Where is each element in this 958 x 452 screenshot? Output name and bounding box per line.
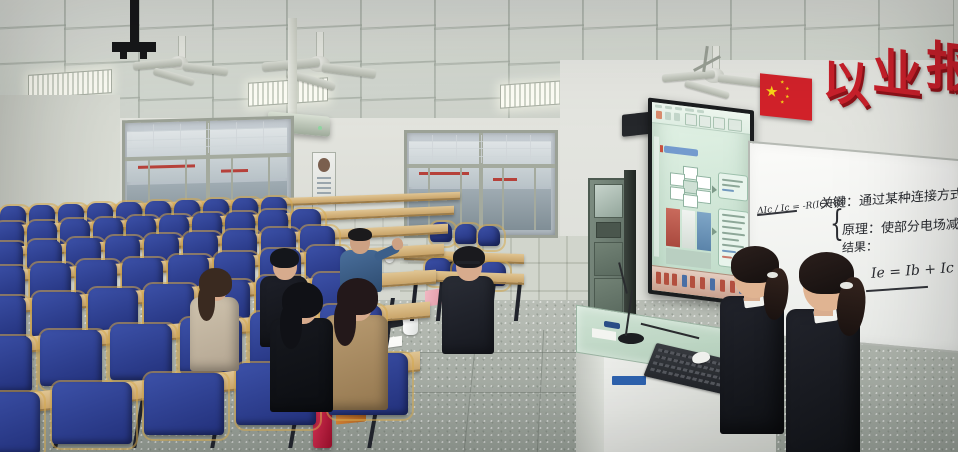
- person-hair: [270, 248, 299, 268]
- wall-sign-char-3: 报: [926, 23, 958, 104]
- callout-text: [722, 226, 742, 230]
- ribbon-tab: [675, 107, 682, 111]
- slide-panel-white: [682, 210, 695, 250]
- callout-text: [722, 214, 745, 218]
- projector-pole: [288, 18, 297, 116]
- window-view-banner: [493, 178, 517, 181]
- projector-led: [318, 126, 322, 130]
- person-hair-length: [198, 285, 215, 321]
- person-glasses: [456, 261, 480, 264]
- equipment-cabinet[interactable]: [588, 178, 628, 322]
- ribbon-icon: [713, 116, 725, 129]
- flag-star-small: ★: [785, 87, 789, 92]
- lecture-seat[interactable]: [0, 336, 32, 392]
- callout-text: [722, 184, 740, 188]
- slide-title-bar: [664, 145, 698, 156]
- callout-text: [722, 189, 734, 192]
- taskbar-icon: [672, 273, 677, 286]
- plaque-text: [317, 177, 331, 179]
- slide-panel-red: [666, 208, 680, 248]
- slide-thumbnail-pane: [654, 136, 659, 257]
- hexagon-diagram: [668, 164, 712, 207]
- microphone-base: [618, 333, 644, 344]
- cabinet-window: [594, 184, 623, 218]
- ribbon-icon: [656, 110, 662, 119]
- ribbon-icon: [685, 113, 697, 126]
- hex-node: [696, 189, 711, 204]
- ceiling-tile: [212, 24, 288, 65]
- person-hair: [348, 228, 372, 241]
- lecture-seat[interactable]: [144, 373, 224, 435]
- ceiling-tile: [0, 24, 66, 65]
- lecture-seat-right[interactable]: [478, 226, 500, 246]
- lecture-seat[interactable]: [0, 392, 40, 452]
- ceiling-tile: [434, 61, 510, 102]
- window-sash: [534, 167, 536, 230]
- whiteboard-brace: {: [830, 205, 844, 245]
- hex-node: [683, 194, 698, 209]
- slide-panel-caption: [666, 248, 711, 270]
- projector-mount-pole: [130, 0, 139, 44]
- callout-text: [722, 220, 745, 224]
- taskbar-icon: [664, 272, 669, 285]
- ribbon-icon: [728, 118, 742, 132]
- ceiling-tile: [360, 61, 436, 102]
- callout-text: [722, 232, 745, 236]
- ribbon-icon: [699, 115, 711, 128]
- flag-of-china: ★ ★ ★ ★ ★: [760, 73, 812, 120]
- flag-star-small: ★: [785, 95, 789, 100]
- ribbon-tab: [697, 110, 704, 114]
- lecture-seat[interactable]: [40, 330, 102, 386]
- presenter-front: [782, 252, 877, 452]
- window-security-grille: [409, 156, 551, 157]
- podium-side: [576, 352, 604, 452]
- fan-rod: [316, 32, 324, 58]
- projector-mount-foot: [120, 51, 127, 59]
- window-sash: [460, 167, 462, 230]
- audience-dark-jacket: [440, 246, 510, 356]
- window-security-grille: [409, 148, 551, 149]
- ribbon-icon: [665, 112, 671, 121]
- plaque-text: [317, 192, 331, 194]
- ribbon-icon: [674, 113, 680, 122]
- projector-mount-foot: [140, 51, 147, 59]
- window-security-grille: [409, 141, 551, 142]
- audience-beige-coat: [188, 268, 255, 373]
- taskbar-icon: [656, 271, 661, 284]
- flag-star-small: ★: [780, 80, 784, 85]
- person-torso: [442, 276, 494, 354]
- slide-arrow: [712, 185, 717, 194]
- presenter-hair-tie: [840, 282, 853, 289]
- wall-sign-char-1: 以: [822, 41, 870, 117]
- slide-title-accent: [660, 145, 663, 152]
- taskbar-icon: [682, 275, 687, 288]
- seat-rim: [142, 371, 230, 441]
- taskbar-icon: [700, 277, 705, 290]
- hex-node: [696, 175, 711, 190]
- podium-brand-label: [612, 376, 646, 385]
- taskbar-icon: [710, 278, 715, 291]
- plaque-text: [317, 182, 331, 184]
- window-sash: [502, 167, 504, 230]
- seat-rim: [0, 334, 38, 398]
- ribbon-tab: [685, 108, 694, 112]
- ribbon-tab: [665, 106, 672, 110]
- cabinet-panel: [594, 242, 623, 276]
- lecture-seat-right[interactable]: [455, 224, 477, 244]
- taskbar-icon: [690, 276, 695, 289]
- presenter-hair-tie: [767, 272, 778, 278]
- lecture-seat[interactable]: [52, 382, 132, 444]
- audience-black-suit-front: [268, 282, 352, 414]
- seat-rim: [0, 390, 46, 452]
- wall-sign-char-2: 业: [872, 31, 922, 109]
- seat-rim: [50, 380, 138, 450]
- slide-panel-blue: [697, 212, 711, 252]
- plaque-text: [317, 187, 331, 189]
- slide-arrow-2: [712, 227, 717, 236]
- flag-star-small: ★: [780, 100, 784, 105]
- ribbon-tab: [655, 104, 662, 108]
- slide-callout-top: [718, 172, 748, 202]
- callout-text: [722, 179, 743, 183]
- person-hair: [453, 246, 485, 268]
- ceiling-tile: [434, 24, 510, 65]
- person-hair-length: [280, 304, 302, 350]
- window-center: [404, 130, 558, 238]
- fan-rod: [178, 36, 186, 58]
- callout-text: [722, 238, 739, 242]
- cabinet-meter: [596, 222, 621, 238]
- classroom-scene: 关键：通过某种连接方式 原理：使部分电场减小 结果： Ie = Ib + Ic …: [0, 0, 958, 452]
- flag-star-large: ★: [765, 84, 778, 100]
- plaque-portrait: [318, 158, 330, 172]
- ceiling-tile: [360, 24, 436, 65]
- projector-mount-bracket: [112, 42, 156, 52]
